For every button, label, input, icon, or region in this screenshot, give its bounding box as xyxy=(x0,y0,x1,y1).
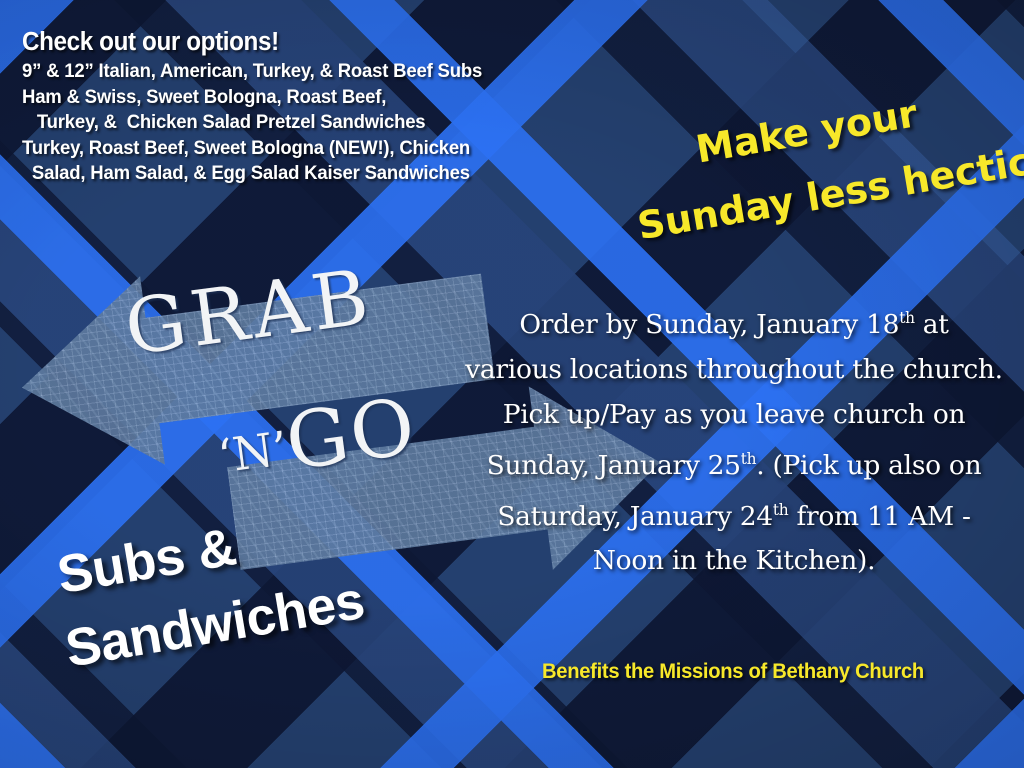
options-line-3: Turkey, & Chicken Salad Pretzel Sandwich… xyxy=(22,110,630,136)
options-line-4: Turkey, Roast Beef, Sweet Bologna (NEW!)… xyxy=(22,136,630,162)
body-line-5-sup: th xyxy=(773,501,788,519)
options-line-1: 9” & 12” Italian, American, Turkey, & Ro… xyxy=(22,59,630,85)
logo-n-text: ‘N’ xyxy=(215,421,291,484)
body-line-4: Sunday, January 25th. (Pick up also on xyxy=(458,437,1010,488)
headline: Make your Sunday less hectic! xyxy=(604,66,1020,262)
benefits-line: Benefits the Missions of Bethany Church xyxy=(466,660,1000,684)
options-line-5: Salad, Ham Salad, & Egg Salad Kaiser San… xyxy=(22,161,630,187)
body-line-5: Saturday, January 24th from 11 AM - xyxy=(458,488,1010,539)
body-line-2: various locations throughout the church. xyxy=(458,347,1010,392)
body-line-3: Pick up/Pay as you leave church on xyxy=(458,392,1010,437)
body-copy: Order by Sunday, January 18th at various… xyxy=(458,296,1010,583)
body-line-1-sup: th xyxy=(899,309,914,327)
body-line-1-a: Order by Sunday, January 18 xyxy=(519,309,899,340)
poster-canvas: Check out our options! 9” & 12” Italian,… xyxy=(0,0,1024,768)
body-line-6: Noon in the Kitchen). xyxy=(458,538,1010,583)
body-line-5-a: Saturday, January 24 xyxy=(497,500,773,531)
options-title: Check out our options! xyxy=(22,26,630,59)
body-line-1: Order by Sunday, January 18th at xyxy=(458,296,1010,347)
body-line-1-b: at xyxy=(915,309,949,340)
body-line-4-sup: th xyxy=(741,450,756,468)
logo-go-text: GO xyxy=(281,382,422,488)
body-line-5-b: from 11 AM - xyxy=(788,500,970,531)
subs-sandwiches-block: Subs & Sandwiches xyxy=(52,471,491,686)
body-line-4-b: . (Pick up also on xyxy=(756,450,981,481)
body-line-4-a: Sunday, January 25 xyxy=(487,450,741,481)
options-line-2: Ham & Swiss, Sweet Bologna, Roast Beef, xyxy=(22,85,630,111)
options-block: Check out our options! 9” & 12” Italian,… xyxy=(22,26,630,187)
